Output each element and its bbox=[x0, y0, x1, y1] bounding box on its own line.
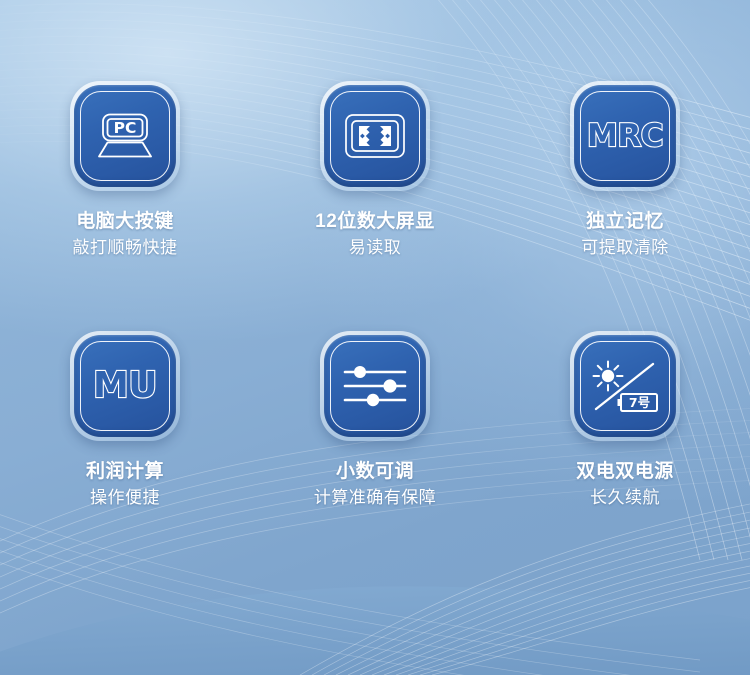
pc-keyboard-icon: PC bbox=[67, 78, 183, 194]
feature-caption: 利润计算 操作便捷 bbox=[86, 460, 164, 510]
screen-expand-icon bbox=[317, 78, 433, 194]
feature-title: 双电双电源 bbox=[576, 460, 674, 485]
feature-caption: 独立记忆 可提取清除 bbox=[581, 210, 669, 260]
sun-icon bbox=[594, 362, 623, 391]
solar-battery-icon: 7号 bbox=[567, 328, 683, 444]
feature-caption: 小数可调 计算准确有保障 bbox=[314, 460, 437, 510]
feature-subtitle: 易读取 bbox=[315, 237, 435, 260]
mrc-memory-icon: MRC bbox=[567, 78, 683, 194]
feature-cell-pc-keyboard: PC 电脑大按键 敲打顺畅快捷 bbox=[0, 78, 250, 328]
feature-subtitle: 长久续航 bbox=[576, 487, 674, 510]
feature-tile-mrc-memory: MRC bbox=[567, 78, 683, 194]
mu-markup-icon: MU bbox=[67, 328, 183, 444]
feature-cell-decimal-adjust: 小数可调 计算准确有保障 bbox=[250, 328, 500, 578]
battery-size-label: 7号 bbox=[629, 395, 650, 410]
feature-tile-mu-markup: MU bbox=[67, 328, 183, 444]
feature-tile-big-screen bbox=[317, 78, 433, 194]
feature-tile-decimal-adjust bbox=[317, 328, 433, 444]
feature-title: 小数可调 bbox=[314, 460, 437, 485]
feature-title: 12位数大屏显 bbox=[315, 210, 435, 235]
feature-caption: 12位数大屏显 易读取 bbox=[315, 210, 435, 260]
feature-title: 电脑大按键 bbox=[73, 210, 178, 235]
mrc-icon-label: MRC bbox=[587, 121, 663, 152]
feature-grid: PC 电脑大按键 敲打顺畅快捷 bbox=[0, 0, 750, 578]
bottom-arc-shape bbox=[0, 586, 750, 675]
feature-title: 独立记忆 bbox=[581, 210, 669, 235]
feature-subtitle: 敲打顺畅快捷 bbox=[73, 237, 178, 260]
feature-title: 利润计算 bbox=[86, 460, 164, 485]
feature-cell-dual-power: 7号 双电双电源 长久续航 bbox=[500, 328, 750, 578]
decimal-slider-icon bbox=[317, 328, 433, 444]
feature-cell-big-screen: 12位数大屏显 易读取 bbox=[250, 78, 500, 328]
mu-icon-label: MU bbox=[93, 368, 157, 404]
feature-tile-dual-power: 7号 bbox=[567, 328, 683, 444]
pc-icon-label: PC bbox=[114, 119, 137, 137]
feature-tile-pc-keyboard: PC bbox=[67, 78, 183, 194]
feature-cell-mu-markup: MU 利润计算 操作便捷 bbox=[0, 328, 250, 578]
feature-subtitle: 操作便捷 bbox=[86, 487, 164, 510]
feature-highlight-banner: PC 电脑大按键 敲打顺畅快捷 bbox=[0, 0, 750, 675]
feature-caption: 电脑大按键 敲打顺畅快捷 bbox=[73, 210, 178, 260]
battery-icon: 7号 bbox=[618, 394, 658, 411]
feature-subtitle: 计算准确有保障 bbox=[314, 487, 437, 510]
expand-arrows bbox=[359, 126, 391, 146]
feature-caption: 双电双电源 长久续航 bbox=[576, 460, 674, 510]
feature-subtitle: 可提取清除 bbox=[581, 237, 669, 260]
feature-cell-mrc-memory: MRC 独立记忆 可提取清除 bbox=[500, 78, 750, 328]
